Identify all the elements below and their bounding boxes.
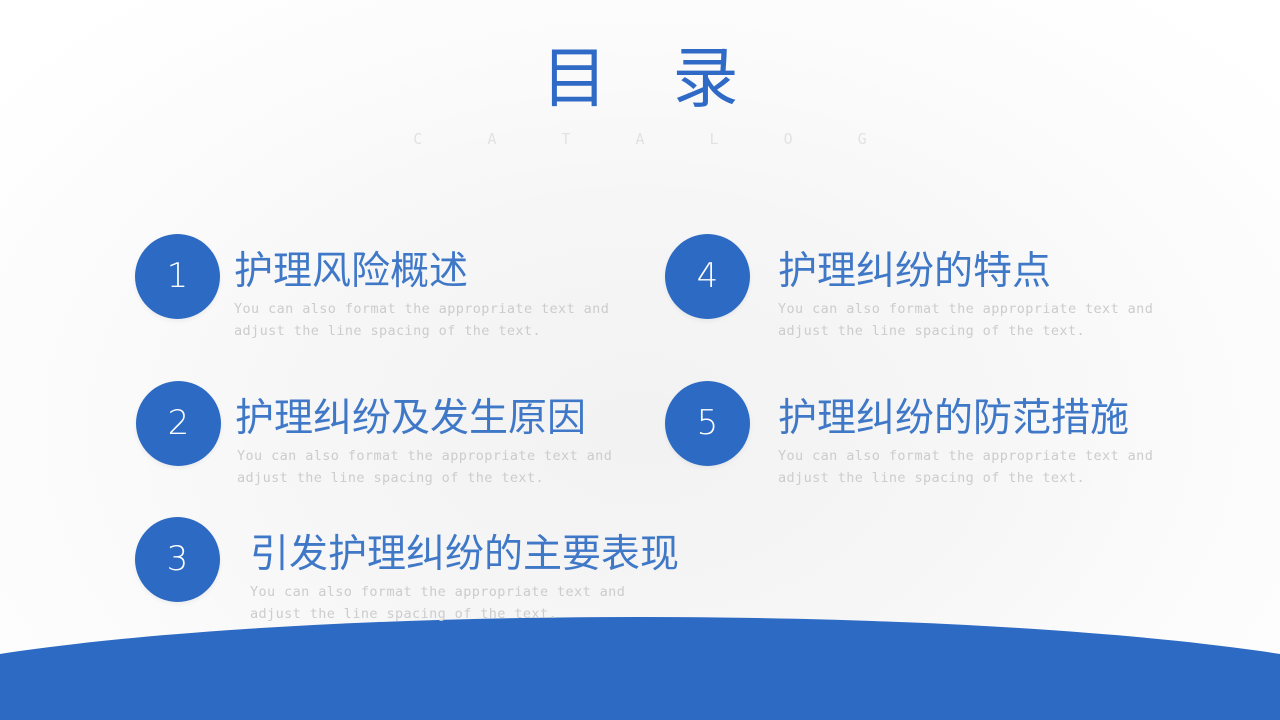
catalog-slide: 目 录 C A T A L O G 1 护理风险概述 You can also … bbox=[0, 0, 1280, 720]
item-text-block: 护理纠纷的防范措施 You can also format the approp… bbox=[778, 395, 1153, 489]
item-title[interactable]: 引发护理纠纷的主要表现 bbox=[250, 531, 679, 579]
catalog-items-list: 1 护理风险概述 You can also format the appropr… bbox=[0, 0, 1280, 720]
item-description-line-1: You can also format the appropriate text… bbox=[234, 298, 609, 320]
item-description-line-2: adjust the line spacing of the text. bbox=[250, 603, 679, 625]
item-description-line-2: adjust the line spacing of the text. bbox=[234, 320, 609, 342]
item-text-block: 护理纠纷及发生原因 You can also format the approp… bbox=[235, 395, 612, 489]
item-text-block: 引发护理纠纷的主要表现 You can also format the appr… bbox=[250, 531, 679, 625]
item-description-line-2: adjust the line spacing of the text. bbox=[237, 467, 612, 489]
item-title[interactable]: 护理纠纷及发生原因 bbox=[235, 395, 612, 443]
item-description-line-2: adjust the line spacing of the text. bbox=[778, 467, 1153, 489]
item-number-badge: 4 bbox=[665, 234, 750, 319]
item-title[interactable]: 护理纠纷的防范措施 bbox=[778, 395, 1153, 443]
item-number-badge: 5 bbox=[665, 381, 750, 466]
item-title[interactable]: 护理纠纷的特点 bbox=[778, 248, 1153, 296]
item-description-line-1: You can also format the appropriate text… bbox=[778, 445, 1153, 467]
item-description-line-1: You can also format the appropriate text… bbox=[250, 581, 679, 603]
item-text-block: 护理风险概述 You can also format the appropria… bbox=[234, 248, 609, 342]
item-description-line-1: You can also format the appropriate text… bbox=[778, 298, 1153, 320]
item-number-badge: 3 bbox=[135, 517, 220, 602]
item-description-line-1: You can also format the appropriate text… bbox=[237, 445, 612, 467]
item-title[interactable]: 护理风险概述 bbox=[234, 248, 609, 296]
item-number-badge: 2 bbox=[136, 381, 221, 466]
item-description-line-2: adjust the line spacing of the text. bbox=[778, 320, 1153, 342]
item-text-block: 护理纠纷的特点 You can also format the appropri… bbox=[778, 248, 1153, 342]
item-number-badge: 1 bbox=[135, 234, 220, 319]
